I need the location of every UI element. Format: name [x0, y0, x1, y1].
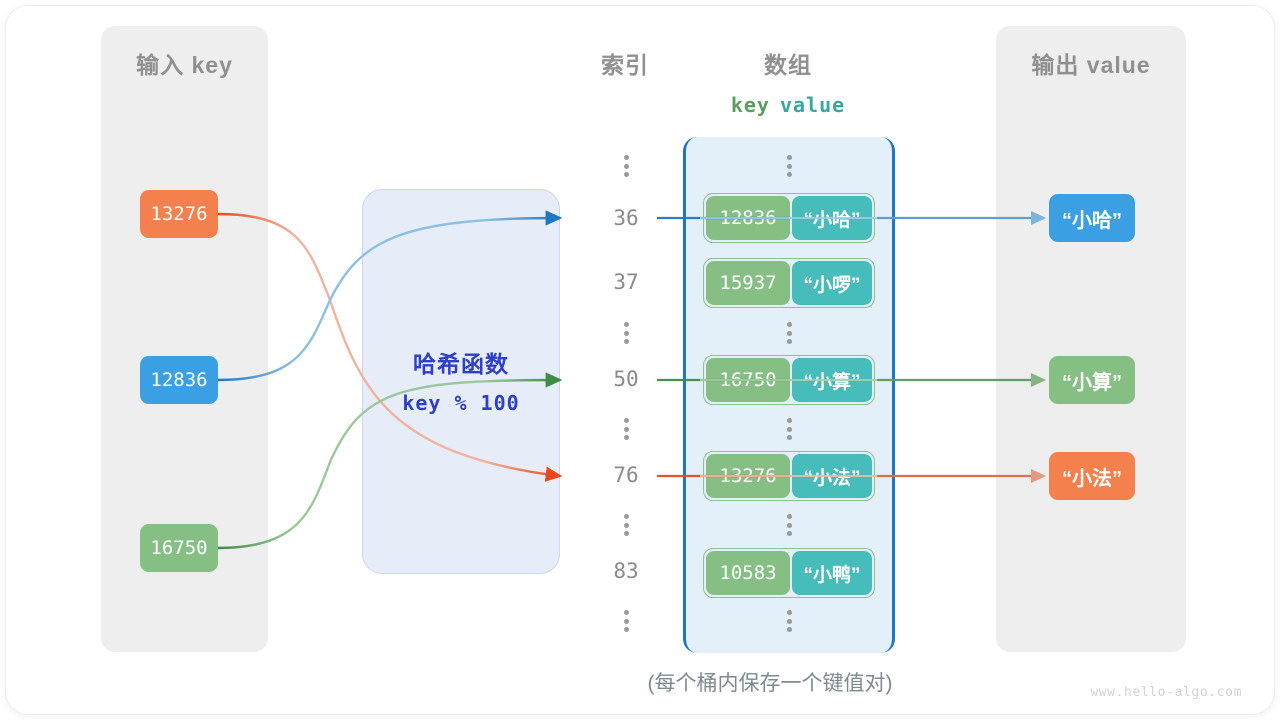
output-value-label: “小哈” [1062, 204, 1122, 233]
bucket-key: 15937 [706, 261, 790, 305]
hash-function-expression: key % 100 [362, 391, 560, 415]
bucket-value: “小法” [792, 454, 872, 498]
index-ellipsis-icon [621, 514, 631, 536]
output-value-panel: 输出 value [996, 26, 1186, 652]
index-label: 37 [596, 270, 656, 294]
index-label: 36 [596, 206, 656, 230]
diagram-caption: (每个桶内保存一个键值对) [540, 667, 1000, 697]
array-bucket[interactable]: 12836 “小哈” [703, 193, 875, 243]
input-key-chip[interactable]: 12836 [140, 356, 218, 404]
index-ellipsis-icon [621, 610, 631, 632]
array-ellipsis-icon [784, 610, 794, 632]
index-label: 76 [596, 463, 656, 487]
value-header-label: value [780, 93, 845, 117]
hash-function-label: 哈希函数 [362, 345, 560, 379]
hash-function-box [362, 189, 560, 574]
key-header-label: key [731, 93, 770, 117]
input-key-chip[interactable]: 16750 [140, 524, 218, 572]
output-value-chip[interactable]: “小法” [1049, 452, 1135, 500]
array-ellipsis-icon [784, 322, 794, 344]
input-key-label: 16750 [150, 537, 207, 559]
index-ellipsis-icon [621, 155, 631, 177]
array-ellipsis-icon [784, 418, 794, 440]
output-value-label: “小算” [1062, 366, 1122, 395]
index-column-header: 索引 [575, 46, 675, 80]
bucket-key: 12836 [706, 196, 790, 240]
bucket-value: “小啰” [792, 261, 872, 305]
array-ellipsis-icon [784, 155, 794, 177]
watermark: www.hello-algo.com [1090, 685, 1242, 700]
key-value-header: keyvalue [688, 93, 888, 117]
output-panel-title: 输出 value [996, 46, 1186, 80]
diagram-canvas: 输入 key 13276 12836 16750 哈希函数 key % 100 … [0, 0, 1280, 720]
bucket-key: 16750 [706, 358, 790, 402]
array-bucket[interactable]: 16750 “小算” [703, 355, 875, 405]
array-bucket[interactable]: 15937 “小啰” [703, 258, 875, 308]
index-label: 50 [596, 367, 656, 391]
input-panel-title: 输入 key [101, 46, 268, 80]
bucket-key: 13276 [706, 454, 790, 498]
bucket-value: “小哈” [792, 196, 872, 240]
output-value-chip[interactable]: “小算” [1049, 356, 1135, 404]
input-key-label: 12836 [150, 369, 207, 391]
bucket-value: “小鸭” [792, 551, 872, 595]
output-value-label: “小法” [1062, 462, 1122, 491]
array-bucket[interactable]: 10583 “小鸭” [703, 548, 875, 598]
index-label: 83 [596, 559, 656, 583]
input-key-chip[interactable]: 13276 [140, 190, 218, 238]
index-ellipsis-icon [621, 322, 631, 344]
array-bucket[interactable]: 13276 “小法” [703, 451, 875, 501]
bucket-value: “小算” [792, 358, 872, 402]
bucket-key: 10583 [706, 551, 790, 595]
array-column-header: 数组 [728, 46, 848, 80]
output-value-chip[interactable]: “小哈” [1049, 194, 1135, 242]
array-ellipsis-icon [784, 514, 794, 536]
input-key-label: 13276 [150, 203, 207, 225]
index-ellipsis-icon [621, 418, 631, 440]
